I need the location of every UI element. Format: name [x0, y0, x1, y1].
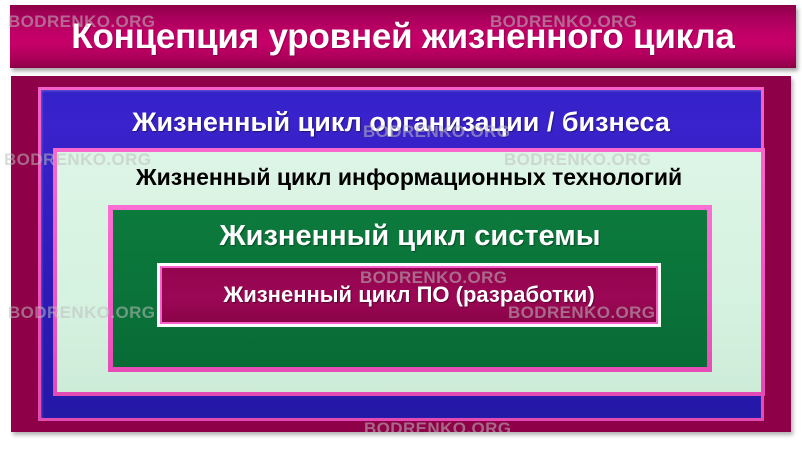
slide-title-banner: Концепция уровней жизненного цикла — [10, 5, 796, 68]
lifecycle-level-organization-border: Жизненный цикл организации / бизнеса Жиз… — [38, 87, 764, 421]
lifecycle-level-software[interactable]: Жизненный цикл ПО (разработки) — [162, 268, 656, 322]
lifecycle-level-it[interactable]: Жизненный цикл информационных технологий… — [57, 152, 761, 392]
lifecycle-level-system-label: Жизненный цикл системы — [113, 220, 707, 253]
lifecycle-level-outer-frame: Жизненный цикл организации / бизнеса Жиз… — [11, 76, 791, 432]
lifecycle-level-software-outer-border: Жизненный цикл ПО (разработки) — [157, 263, 661, 327]
lifecycle-level-organization[interactable]: Жизненный цикл организации / бизнеса Жиз… — [41, 90, 761, 418]
lifecycle-level-system-border: Жизненный цикл системы Жизненный цикл ПО… — [108, 205, 712, 372]
lifecycle-level-software-inner-border: Жизненный цикл ПО (разработки) — [160, 266, 658, 324]
lifecycle-level-system[interactable]: Жизненный цикл системы Жизненный цикл ПО… — [113, 210, 707, 367]
lifecycle-level-it-label: Жизненный цикл информационных технологий — [57, 164, 761, 191]
lifecycle-level-it-border: Жизненный цикл информационных технологий… — [53, 148, 765, 396]
lifecycle-level-organization-label: Жизненный цикл организации / бизнеса — [41, 107, 761, 138]
page-title: Концепция уровней жизненного цикла — [10, 5, 796, 68]
slide-canvas: Концепция уровней жизненного цикла Жизне… — [0, 0, 802, 451]
lifecycle-level-software-label: Жизненный цикл ПО (разработки) — [162, 268, 656, 322]
